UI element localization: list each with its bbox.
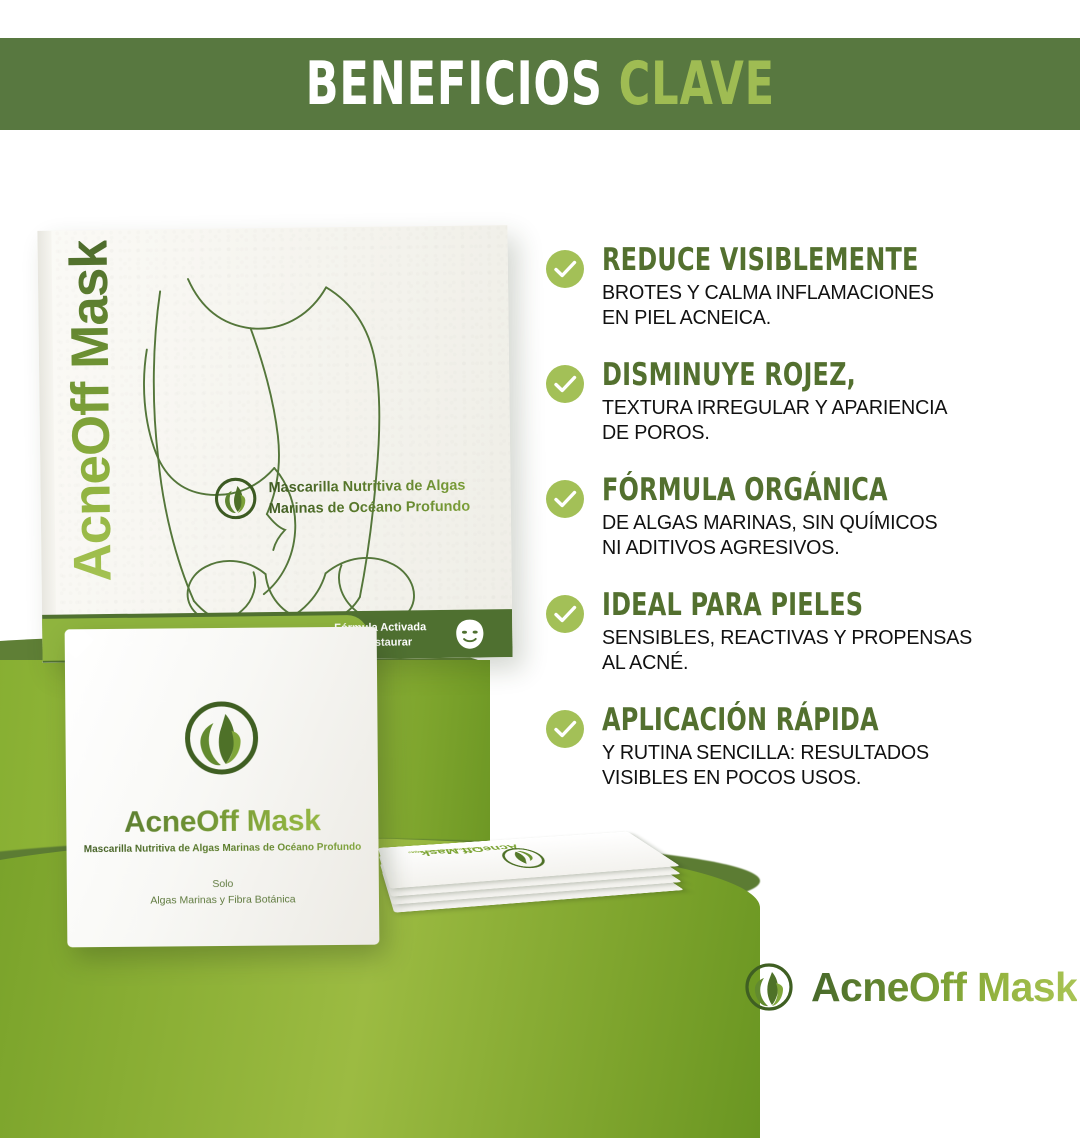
check-circle-icon (546, 250, 584, 288)
benefit-body-line2: VISIBLES EN POCOS USOS. (602, 765, 1028, 790)
box-spine-text: AcneOff Mask (53, 240, 128, 663)
box-tagline: Mascarilla Nutritiva de Algas Marinas de… (268, 475, 498, 519)
product-sachet: AcneOff Mask Mascarilla Nutritiva de Alg… (65, 627, 380, 948)
face-mask-icon (453, 617, 486, 650)
benefit-body-line2: NI ADITIVOS AGRESIVOS. (602, 535, 1028, 560)
box-tagline-line1: Mascarilla Nutritiva de Algas (268, 475, 498, 498)
check-circle-icon (546, 710, 584, 748)
benefit-title: FÓRMULA ORGÁNICA (602, 474, 984, 507)
benefit-title: REDUCE VISIBLEMENTE (602, 244, 984, 277)
box-spine-text-label: AcneOff Mask (58, 240, 123, 582)
benefit-item: REDUCE VISIBLEMENTE BROTES Y CALMA INFLA… (546, 244, 1046, 359)
benefit-item: APLICACIÓN RÁPIDA Y RUTINA SENCILLA: RES… (546, 704, 1046, 819)
brand-lockup: AcneOff Mask (742, 960, 1077, 1014)
product-box: AcneOff Mask Mascarilla Nutritiva de Alg… (37, 225, 512, 663)
sachet-title: AcneOff Mask (66, 804, 378, 841)
check-circle-icon (546, 480, 584, 518)
box-tagline-line2: Marinas de Océano Profundo (269, 496, 499, 519)
brand-name: AcneOff Mask (811, 964, 1077, 1011)
benefit-body-line1: BROTES Y CALMA INFLAMACIONES (602, 280, 1028, 305)
benefit-item: DISMINUYE ROJEZ, TEXTURA IRREGULAR Y APA… (546, 359, 1046, 474)
benefit-body: SENSIBLES, REACTIVAS Y PROPENSAS AL ACNÉ… (602, 625, 1028, 675)
page-title-primary: BENEFICIOS (305, 49, 602, 119)
leaf-circle-logo-icon (491, 845, 558, 872)
page-title-accent: CLAVE (618, 49, 774, 119)
benefit-body: TEXTURA IRREGULAR Y APARIENCIA DE POROS. (602, 395, 1028, 445)
check-circle-icon (546, 595, 584, 633)
benefit-title: DISMINUYE ROJEZ, (602, 359, 984, 392)
sachet-ingredients: Solo Algas Marinas y Fibra Botánica (67, 875, 379, 910)
leaf-circle-logo-icon (212, 475, 259, 522)
benefit-body-line1: TEXTURA IRREGULAR Y APARIENCIA (602, 395, 1028, 420)
benefit-body-line1: SENSIBLES, REACTIVAS Y PROPENSAS (602, 625, 1028, 650)
woman-face-line-art (116, 267, 513, 652)
header-band: BENEFICIOS CLAVE (0, 38, 1080, 130)
benefit-body: Y RUTINA SENCILLA: RESULTADOS VISIBLES E… (602, 740, 1028, 790)
sachet-subtitle: Mascarilla Nutritiva de Algas Marinas de… (66, 842, 378, 856)
sachet-stack: AcneOff Mask Mascarilla Nutritiva de Alg… (378, 846, 678, 956)
benefit-body: BROTES Y CALMA INFLAMACIONES EN PIEL ACN… (602, 280, 1028, 330)
benefit-item: IDEAL PARA PIELES SENSIBLES, REACTIVAS Y… (546, 589, 1046, 704)
benefit-body-line1: Y RUTINA SENCILLA: RESULTADOS (602, 740, 1028, 765)
sachet-ingredients-line2: Algas Marinas y Fibra Botánica (67, 891, 379, 910)
benefit-body: DE ALGAS MARINAS, SIN QUÍMICOS NI ADITIV… (602, 510, 1028, 560)
benefit-body-line2: DE POROS. (602, 420, 1028, 445)
benefit-body-line1: DE ALGAS MARINAS, SIN QUÍMICOS (602, 510, 1028, 535)
sachet-corner-notch (65, 627, 94, 659)
benefit-title: IDEAL PARA PIELES (602, 589, 984, 622)
leaf-circle-logo-icon (179, 696, 264, 781)
page-title: BENEFICIOS CLAVE (305, 49, 774, 119)
benefit-body-line2: EN PIEL ACNEICA. (602, 305, 1028, 330)
benefit-title: APLICACIÓN RÁPIDA (602, 704, 984, 737)
benefit-body-line2: AL ACNÉ. (602, 650, 1028, 675)
check-circle-icon (546, 365, 584, 403)
benefit-item: FÓRMULA ORGÁNICA DE ALGAS MARINAS, SIN Q… (546, 474, 1046, 589)
leaf-circle-logo-icon (742, 960, 796, 1014)
benefits-list: REDUCE VISIBLEMENTE BROTES Y CALMA INFLA… (546, 244, 1046, 819)
